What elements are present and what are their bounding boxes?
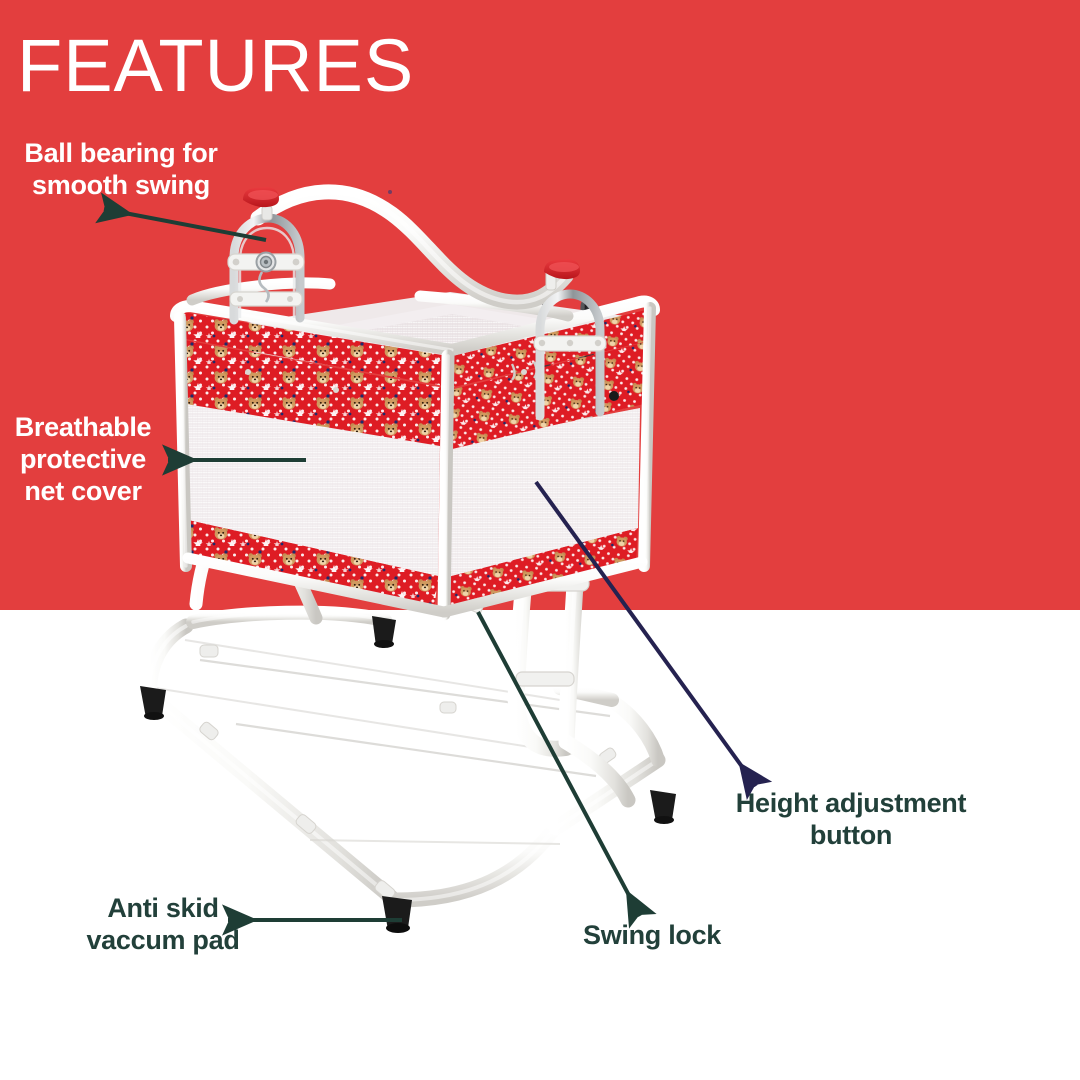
callout-label-ball-bearing: Ball bearing for smooth swing	[0, 138, 242, 202]
callout-line: Swing lock	[583, 920, 743, 952]
callout-line: Ball bearing for	[0, 138, 242, 170]
infographic-canvas: FEATURES Ball bearing for smooth swing B…	[0, 0, 1080, 1080]
callout-line: Anti skid	[68, 893, 258, 925]
callout-line: vaccum pad	[68, 925, 258, 957]
callout-label-net-cover: Breathable protective net cover	[0, 412, 166, 508]
callout-line: net cover	[0, 476, 166, 508]
page-title: FEATURES	[17, 24, 414, 108]
callout-line: button	[716, 820, 986, 852]
callout-label-anti-skid: Anti skid vaccum pad	[68, 893, 258, 957]
callout-line: smooth swing	[0, 170, 242, 202]
callout-label-swing-lock: Swing lock	[583, 920, 743, 952]
callout-line: protective	[0, 444, 166, 476]
callout-line: Breathable	[0, 412, 166, 444]
callout-label-height-adjustment: Height adjustment button	[716, 788, 986, 852]
callout-line: Height adjustment	[716, 788, 986, 820]
